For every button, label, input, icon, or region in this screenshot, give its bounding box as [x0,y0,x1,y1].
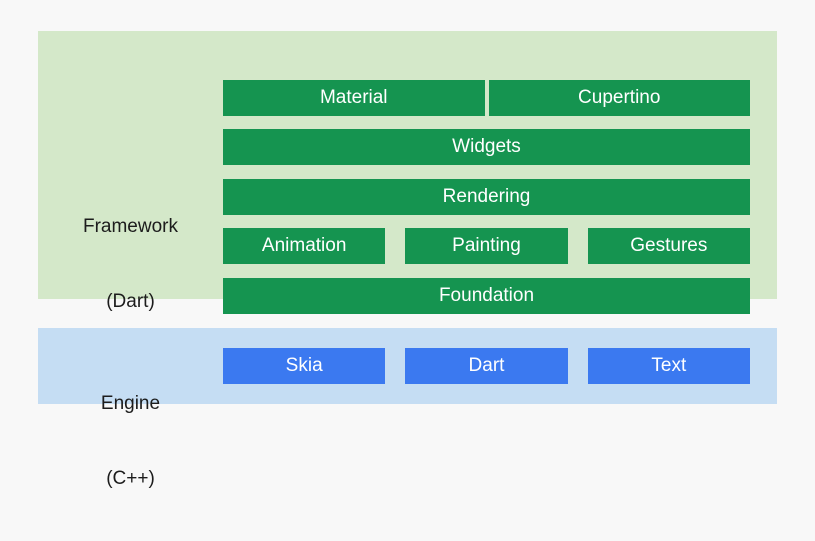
framework-row-material-cupertino: Material Cupertino [223,80,750,116]
row-gap [568,348,588,384]
framework-layer-label-line2: (Dart) [38,289,223,314]
row-gap [385,348,405,384]
engine-layer-label-line2: (C++) [38,466,223,491]
engine-row-skia-dart-text: Skia Dart Text [223,348,750,384]
engine-layer-panel: Engine (C++) Skia Dart Text [38,328,777,404]
block-painting[interactable]: Painting [405,228,567,264]
framework-layer-label-line1: Framework [38,214,223,239]
framework-row-animation-painting-gestures: Animation Painting Gestures [223,228,750,264]
block-dart[interactable]: Dart [405,348,567,384]
engine-layer-label-line1: Engine [38,391,223,416]
framework-row-widgets: Widgets [223,129,750,165]
block-foundation[interactable]: Foundation [223,278,750,314]
row-gap [568,228,588,264]
framework-layer-panel: Framework (Dart) Material Cupertino Widg… [38,31,777,299]
engine-layer-label: Engine (C++) [38,341,223,541]
diagram-canvas: Framework (Dart) Material Cupertino Widg… [0,0,815,449]
block-cupertino[interactable]: Cupertino [489,80,751,116]
block-skia[interactable]: Skia [223,348,385,384]
block-material[interactable]: Material [223,80,485,116]
block-rendering[interactable]: Rendering [223,179,750,215]
row-gap [385,228,405,264]
block-animation[interactable]: Animation [223,228,385,264]
block-gestures[interactable]: Gestures [588,228,750,264]
framework-row-foundation: Foundation [223,278,750,314]
framework-row-rendering: Rendering [223,179,750,215]
block-text[interactable]: Text [588,348,750,384]
block-widgets[interactable]: Widgets [223,129,750,165]
